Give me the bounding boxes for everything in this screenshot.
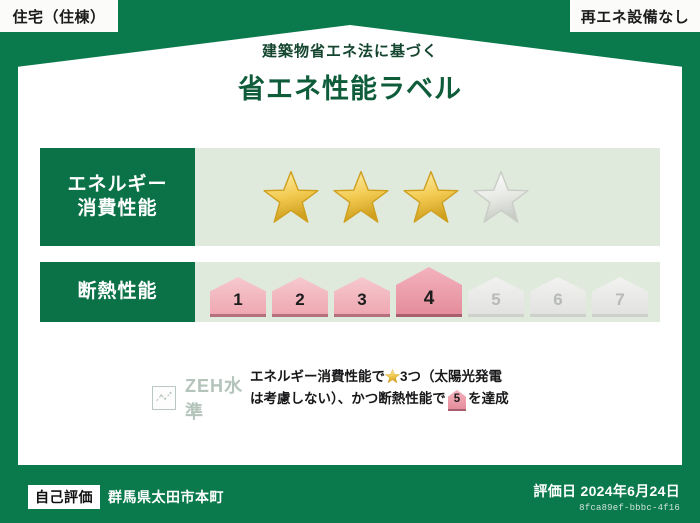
energy-performance-row: エネルギー 消費性能 <box>40 148 660 246</box>
footer-left: 自己評価 群馬県太田市本町 <box>28 485 224 509</box>
renewable-energy-tag: 再エネ設備なし <box>570 0 700 32</box>
insulation-grade-1: 1 <box>210 277 266 317</box>
zeh-house-icon <box>152 386 176 410</box>
page-title: 省エネ性能ラベル <box>0 67 700 106</box>
insulation-label-text: 断熱性能 <box>77 280 157 304</box>
evaluation-date: 評価日 2024年6月24日 <box>533 481 680 501</box>
document-id: 8fca89ef-bbbc-4f16 <box>533 503 680 513</box>
star-icon-empty <box>473 170 529 224</box>
inline-grade-badge: 5 <box>448 390 466 412</box>
star-icon-filled <box>403 170 459 224</box>
insulation-grade-5: 5 <box>468 277 524 317</box>
zeh-standard-logo: ZEH水準 <box>40 362 250 424</box>
self-evaluation-badge: 自己評価 <box>28 485 100 509</box>
description-part1: エネルギー消費性能で <box>250 369 385 384</box>
building-type-tag: 住宅（住棟） <box>0 0 118 32</box>
insulation-grade-7: 7 <box>592 277 648 317</box>
building-address: 群馬県太田市本町 <box>108 487 224 507</box>
insulation-grade-6: 6 <box>530 277 586 317</box>
description-part4: を達成 <box>468 391 509 406</box>
zeh-description-row: ZEH水準 エネルギー消費性能で3つ（太陽光発電は考慮しない）、かつ断熱性能で5… <box>40 362 660 424</box>
insulation-performance-body: 1234567 <box>195 262 660 322</box>
zeh-standard-label: ZEH水準 <box>185 372 250 424</box>
insulation-performance-label: 断熱性能 <box>40 262 195 322</box>
insulation-grade-4: 4 <box>396 267 462 317</box>
insulation-grade-2: 2 <box>272 277 328 317</box>
insulation-grade-scale: 1234567 <box>195 267 660 317</box>
achievement-description: エネルギー消費性能で3つ（太陽光発電は考慮しない）、かつ断熱性能で5を達成 <box>250 362 660 411</box>
energy-label-card: 住宅（住棟） 再エネ設備なし 建築物省エネ法に基づく 省エネ性能ラベル エネルギ… <box>0 0 700 523</box>
description-part3: は考慮しない）、かつ断熱性能で <box>250 391 446 406</box>
energy-label-line2: 消費性能 <box>77 197 157 221</box>
star-rating <box>195 170 529 224</box>
energy-label-line1: エネルギー <box>67 173 167 197</box>
star-icon <box>385 368 400 383</box>
energy-performance-label: エネルギー 消費性能 <box>40 148 195 246</box>
description-part2: 3つ（太陽光発電 <box>400 369 502 384</box>
energy-performance-body <box>195 148 660 246</box>
star-icon-filled <box>263 170 319 224</box>
footer-right: 評価日 2024年6月24日 8fca89ef-bbbc-4f16 <box>533 481 680 513</box>
star-icon-filled <box>333 170 389 224</box>
title-block: 建築物省エネ法に基づく 省エネ性能ラベル <box>0 40 700 106</box>
insulation-grade-3: 3 <box>334 277 390 317</box>
label-subtitle: 建築物省エネ法に基づく <box>0 40 700 61</box>
insulation-performance-row: 断熱性能 1234567 <box>40 262 660 322</box>
